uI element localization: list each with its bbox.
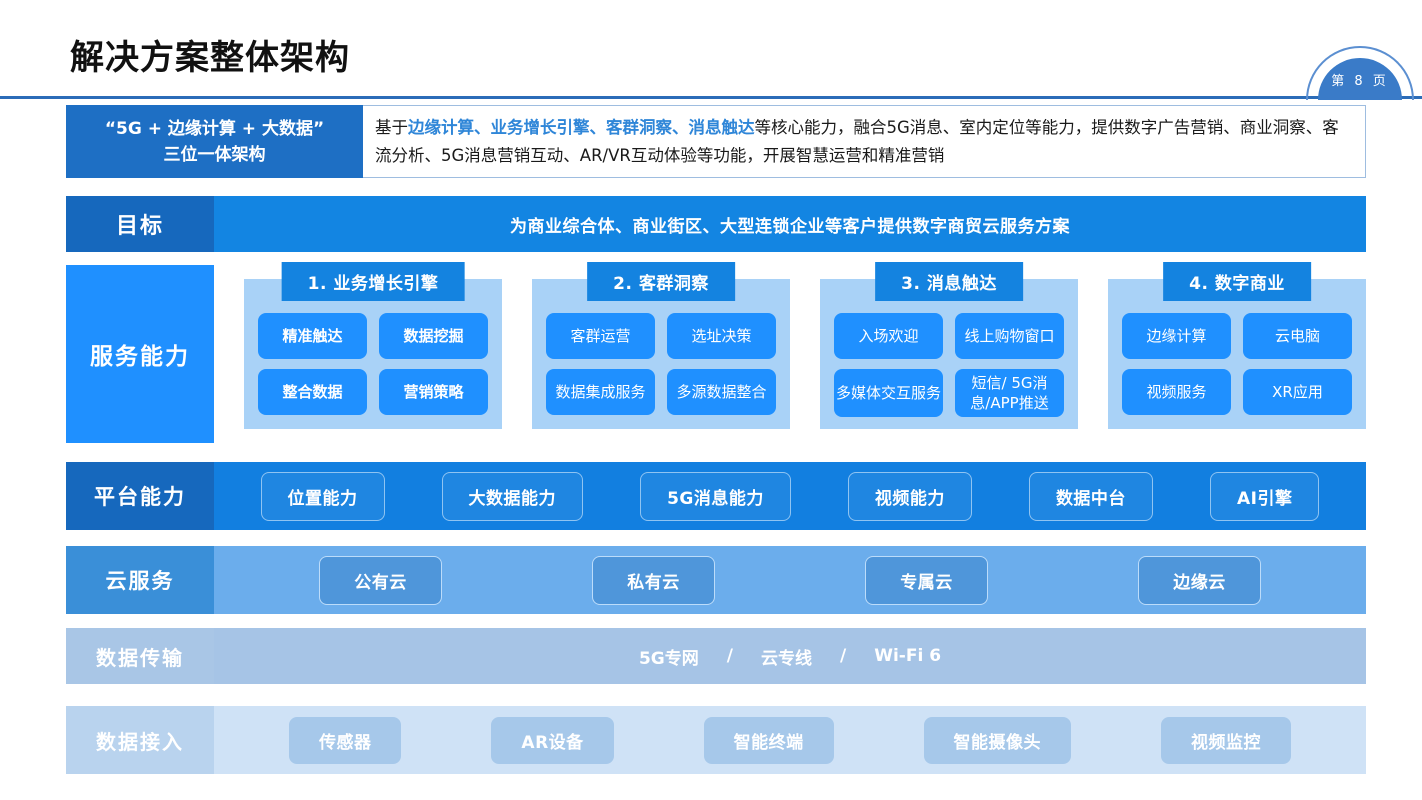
data-transmission-row-label: 数据传输 — [66, 628, 214, 684]
service-card-2[interactable]: 2. 客群洞察 客群运营 选址决策 数据集成服务 多源数据整合 — [532, 279, 790, 429]
service-chip[interactable]: 营销策略 — [379, 369, 488, 415]
intro-label-line1: “5G + 边缘计算 + 大数据” — [105, 116, 324, 142]
service-chip[interactable]: 云电脑 — [1243, 313, 1352, 359]
intro-text-highlight: 边缘计算、业务增长引擎、客群洞察、消息触达 — [408, 118, 755, 137]
service-chip[interactable]: XR应用 — [1243, 369, 1352, 415]
cloud-service-body: 公有云 私有云 专属云 边缘云 — [214, 546, 1366, 614]
service-chip[interactable]: 视频服务 — [1122, 369, 1231, 415]
cloud-pill[interactable]: 私有云 — [592, 556, 715, 605]
slide-header: 解决方案整体架构 第 8 页 — [0, 0, 1422, 100]
intro-text-leading: 基于 — [375, 118, 408, 137]
page-title: 解决方案整体架构 — [70, 36, 350, 80]
intro-banner: “5G + 边缘计算 + 大数据” 三位一体架构 基于边缘计算、业务增长引擎、客… — [66, 105, 1366, 178]
data-access-body: 传感器 AR设备 智能终端 智能摄像头 视频监控 — [214, 706, 1366, 774]
service-chip[interactable]: 入场欢迎 — [834, 313, 943, 359]
intro-label: “5G + 边缘计算 + 大数据” 三位一体架构 — [66, 105, 363, 178]
service-card-1-title: 1. 业务增长引擎 — [282, 262, 465, 301]
page-number-text: 第 8 页 — [1318, 70, 1402, 89]
data-access-row-label: 数据接入 — [66, 706, 214, 774]
header-divider — [0, 96, 1422, 99]
intro-label-line2: 三位一体架构 — [164, 142, 266, 168]
platform-pill[interactable]: 大数据能力 — [442, 472, 584, 521]
platform-pill[interactable]: 视频能力 — [848, 472, 972, 521]
access-pill[interactable]: 智能终端 — [704, 717, 834, 764]
transmission-item: 云专线 — [761, 644, 812, 669]
data-transmission-row: 数据传输 5G专网 / 云专线 / Wi-Fi 6 — [66, 628, 1366, 684]
platform-pill[interactable]: 5G消息能力 — [640, 472, 791, 521]
transmission-item: Wi-Fi 6 — [874, 646, 941, 666]
goal-row-label: 目标 — [66, 196, 214, 252]
service-chip[interactable]: 数据集成服务 — [546, 369, 655, 415]
cloud-pill[interactable]: 专属云 — [865, 556, 988, 605]
service-capability-body: 1. 业务增长引擎 精准触达 数据挖掘 整合数据 营销策略 2. 客群洞察 客群… — [214, 265, 1366, 443]
goal-row-body: 为商业综合体、商业街区、大型连锁企业等客户提供数字商贸云服务方案 — [214, 196, 1366, 252]
service-capability-row: 服务能力 1. 业务增长引擎 精准触达 数据挖掘 整合数据 营销策略 2. 客群… — [66, 265, 1366, 443]
cloud-pill[interactable]: 公有云 — [319, 556, 442, 605]
platform-capability-row: 平台能力 位置能力 大数据能力 5G消息能力 视频能力 数据中台 AI引擎 — [66, 462, 1366, 530]
service-chip[interactable]: 线上购物窗口 — [955, 313, 1064, 359]
platform-pill[interactable]: 数据中台 — [1029, 472, 1153, 521]
access-pill[interactable]: 传感器 — [289, 717, 402, 764]
service-card-3-title: 3. 消息触达 — [875, 262, 1023, 301]
service-chip[interactable]: 短信/ 5G消息/APP推送 — [955, 369, 1064, 417]
service-card-3[interactable]: 3. 消息触达 入场欢迎 线上购物窗口 多媒体交互服务 短信/ 5G消息/APP… — [820, 279, 1078, 429]
cloud-service-row-label: 云服务 — [66, 546, 214, 614]
goal-row: 目标 为商业综合体、商业街区、大型连锁企业等客户提供数字商贸云服务方案 — [66, 196, 1366, 252]
service-card-1[interactable]: 1. 业务增长引擎 精准触达 数据挖掘 整合数据 营销策略 — [244, 279, 502, 429]
service-chip[interactable]: 数据挖掘 — [379, 313, 488, 359]
access-pill[interactable]: AR设备 — [491, 717, 613, 764]
page-number-badge: 第 8 页 — [1306, 46, 1414, 100]
transmission-separator: / — [832, 646, 854, 666]
service-card-4-title: 4. 数字商业 — [1163, 262, 1311, 301]
platform-capability-row-label: 平台能力 — [66, 462, 214, 530]
access-pill[interactable]: 视频监控 — [1161, 717, 1291, 764]
cloud-service-row: 云服务 公有云 私有云 专属云 边缘云 — [66, 546, 1366, 614]
service-cards-area: 1. 业务增长引擎 精准触达 数据挖掘 整合数据 营销策略 2. 客群洞察 客群… — [214, 279, 1366, 429]
transmission-item: 5G专网 — [639, 644, 699, 669]
platform-pill[interactable]: 位置能力 — [261, 472, 385, 521]
access-pill[interactable]: 智能摄像头 — [924, 717, 1072, 764]
service-card-4[interactable]: 4. 数字商业 边缘计算 云电脑 视频服务 XR应用 — [1108, 279, 1366, 429]
data-access-row: 数据接入 传感器 AR设备 智能终端 智能摄像头 视频监控 — [66, 706, 1366, 774]
platform-capability-body: 位置能力 大数据能力 5G消息能力 视频能力 数据中台 AI引擎 — [214, 462, 1366, 530]
transmission-separator: / — [719, 646, 741, 666]
service-chip[interactable]: 精准触达 — [258, 313, 367, 359]
data-transmission-body: 5G专网 / 云专线 / Wi-Fi 6 — [214, 628, 1366, 684]
service-chip[interactable]: 整合数据 — [258, 369, 367, 415]
service-card-2-title: 2. 客群洞察 — [587, 262, 735, 301]
service-chip[interactable]: 选址决策 — [667, 313, 776, 359]
cloud-pill[interactable]: 边缘云 — [1138, 556, 1261, 605]
service-chip[interactable]: 多媒体交互服务 — [834, 369, 943, 417]
service-chip[interactable]: 多源数据整合 — [667, 369, 776, 415]
service-chip[interactable]: 边缘计算 — [1122, 313, 1231, 359]
platform-pill[interactable]: AI引擎 — [1210, 472, 1319, 521]
intro-description: 基于边缘计算、业务增长引擎、客群洞察、消息触达等核心能力，融合5G消息、室内定位… — [363, 105, 1366, 178]
service-chip[interactable]: 客群运营 — [546, 313, 655, 359]
service-capability-row-label: 服务能力 — [66, 265, 214, 443]
